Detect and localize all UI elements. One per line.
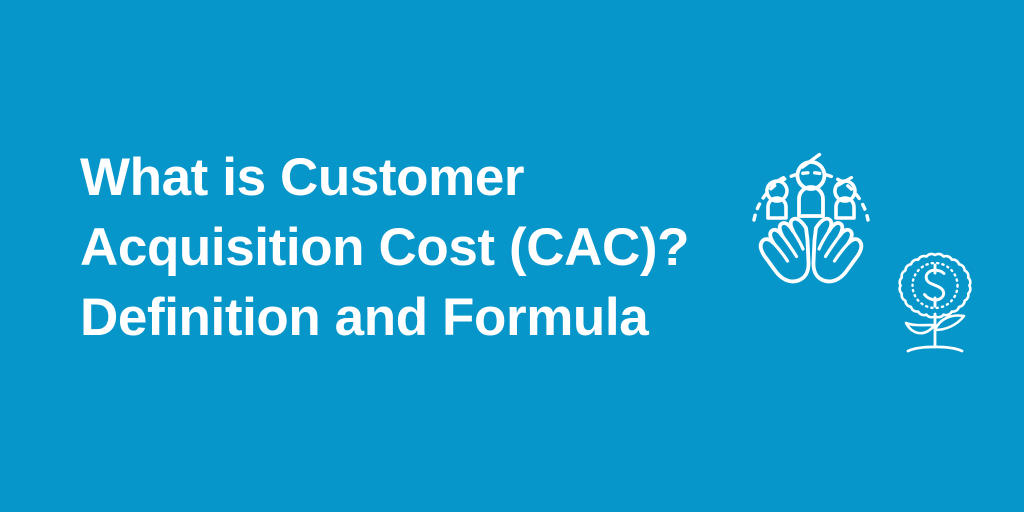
person-center-body — [799, 187, 823, 216]
left-hand-finger-1 — [793, 231, 803, 249]
flower-ground-line — [908, 347, 962, 351]
dashed-arc — [754, 173, 868, 220]
money-flower-icon — [894, 252, 976, 358]
flower-leaf-left — [906, 323, 935, 333]
banner-root: What is Customer Acquisition Cost (CAC)?… — [0, 0, 1024, 512]
title-line-1: What is Customer — [80, 143, 720, 213]
right-hand-finger-2 — [826, 236, 840, 257]
right-hand — [813, 219, 861, 282]
left-hand-finger-2 — [783, 236, 797, 257]
hands-holding-people-glyph — [744, 148, 878, 286]
dollar-s-curve — [925, 270, 945, 300]
right-hand-finger-1 — [819, 231, 829, 249]
title-line-2: Acquisition Cost (CAC)? — [80, 213, 720, 283]
right-hand-finger-3 — [835, 243, 849, 261]
hands-holding-people-icon — [744, 148, 878, 286]
money-flower-glyph — [894, 252, 976, 358]
left-hand-finger-3 — [774, 243, 788, 261]
title-line-3: Definition and Formula — [80, 283, 720, 353]
page-title: What is Customer Acquisition Cost (CAC)?… — [80, 143, 720, 353]
left-hand — [761, 219, 809, 282]
